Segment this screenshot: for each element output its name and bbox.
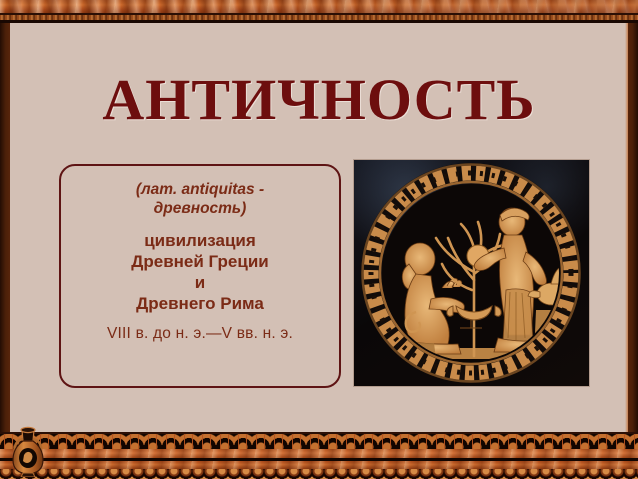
definition-line-3: и <box>61 272 339 293</box>
kylix-artwork <box>354 160 589 386</box>
left-decorative-border <box>0 21 10 438</box>
slide-content-area: АНТИЧНОСТЬ (лат. antiquitas - древность)… <box>10 23 628 434</box>
definition-line-2: Древней Греции <box>61 251 339 272</box>
etymology-line-2: древность) <box>61 199 339 218</box>
amphora-icon <box>2 425 54 477</box>
egg-and-dart-row <box>0 469 638 479</box>
slide-title: АНТИЧНОСТЬ <box>10 71 628 129</box>
definition-textbox: (лат. antiquitas - древность) цивилизаци… <box>59 164 341 388</box>
date-range-label: VIII в. до н. э.—V вв. н. э. <box>61 324 339 343</box>
right-decorative-border <box>628 21 638 438</box>
bottom-copper-band-2 <box>0 461 638 469</box>
top-bottom-line <box>0 20 638 23</box>
top-decorative-border <box>0 0 638 22</box>
bottom-copper-band-1 <box>0 449 638 458</box>
definition-line-1: цивилизация <box>61 230 339 251</box>
textbox-spacer <box>61 218 339 230</box>
bottom-decorative-border <box>0 434 638 479</box>
palmette-pattern-row <box>0 434 638 449</box>
definition-line-4: Древнего Рима <box>61 293 339 314</box>
top-copper-band <box>0 0 638 13</box>
presentation-slide: АНТИЧНОСТЬ (лат. antiquitas - древность)… <box>0 0 638 479</box>
etymology-line-1: (лат. antiquitas - <box>61 180 339 199</box>
greek-vase-illustration <box>354 160 589 386</box>
